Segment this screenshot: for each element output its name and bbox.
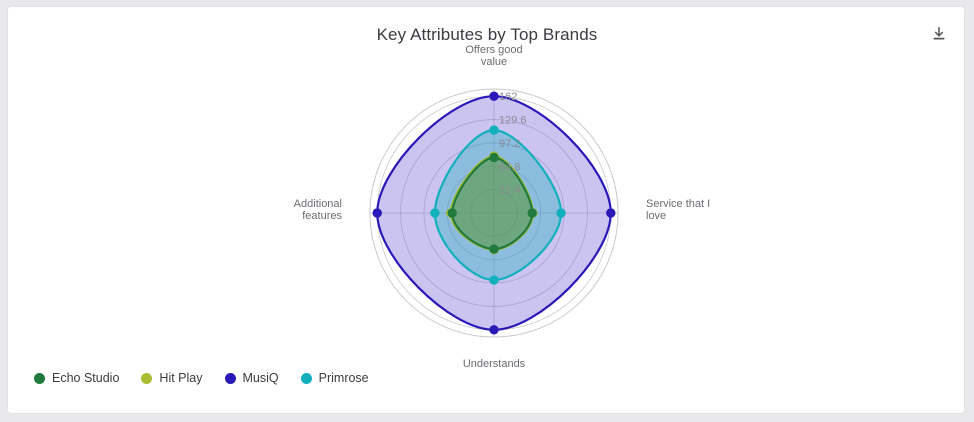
radar-point-3[interactable] [431,209,439,217]
radar-point-2[interactable] [490,245,498,253]
radar-point-1[interactable] [528,209,536,217]
legend-label: Hit Play [159,371,202,385]
legend-item-primrose[interactable]: Primrose [301,371,369,385]
radar-point-2[interactable] [490,276,498,284]
axis-label-2: Understandsme [463,358,526,367]
radar-point-0[interactable] [490,126,498,134]
axis-label-0: Offers goodvalue [465,44,522,68]
radar-point-0[interactable] [490,92,498,100]
radar-point-1[interactable] [607,209,615,217]
legend-label: Primrose [319,371,369,385]
legend-item-hit-play[interactable]: Hit Play [141,371,202,385]
radial-tick-label-4: 162 [499,91,517,103]
axis-label-3: Additionalfeatures [294,198,343,222]
legend-item-echo-studio[interactable]: Echo Studio [34,371,119,385]
radial-tick-label-1: 64.8 [499,161,520,173]
radar-point-3[interactable] [373,209,381,217]
legend-label: MusiQ [243,371,279,385]
radar-point-3[interactable] [448,209,456,217]
radar-chart: 32.464.897.2129.6162Offers goodvalueServ… [8,7,966,367]
radar-point-2[interactable] [490,326,498,334]
axis-label-1: Service that Ilove [646,198,710,222]
legend-swatch-icon [141,373,152,384]
legend-swatch-icon [225,373,236,384]
chart-card: Key Attributes by Top Brands 32.464.897.… [7,6,965,414]
radar-plot-area: 32.464.897.2129.6162Offers goodvalueServ… [8,7,966,367]
legend-swatch-icon [301,373,312,384]
radar-point-1[interactable] [557,209,565,217]
legend-label: Echo Studio [52,371,119,385]
legend-item-musiq[interactable]: MusiQ [225,371,279,385]
radial-tick-label-0: 32.4 [499,185,520,197]
chart-legend: Echo StudioHit PlayMusiQPrimrose [34,371,369,385]
radar-point-0[interactable] [490,153,498,161]
radial-tick-label-2: 97.2 [499,138,520,150]
legend-swatch-icon [34,373,45,384]
radial-tick-label-3: 129.6 [499,115,527,127]
